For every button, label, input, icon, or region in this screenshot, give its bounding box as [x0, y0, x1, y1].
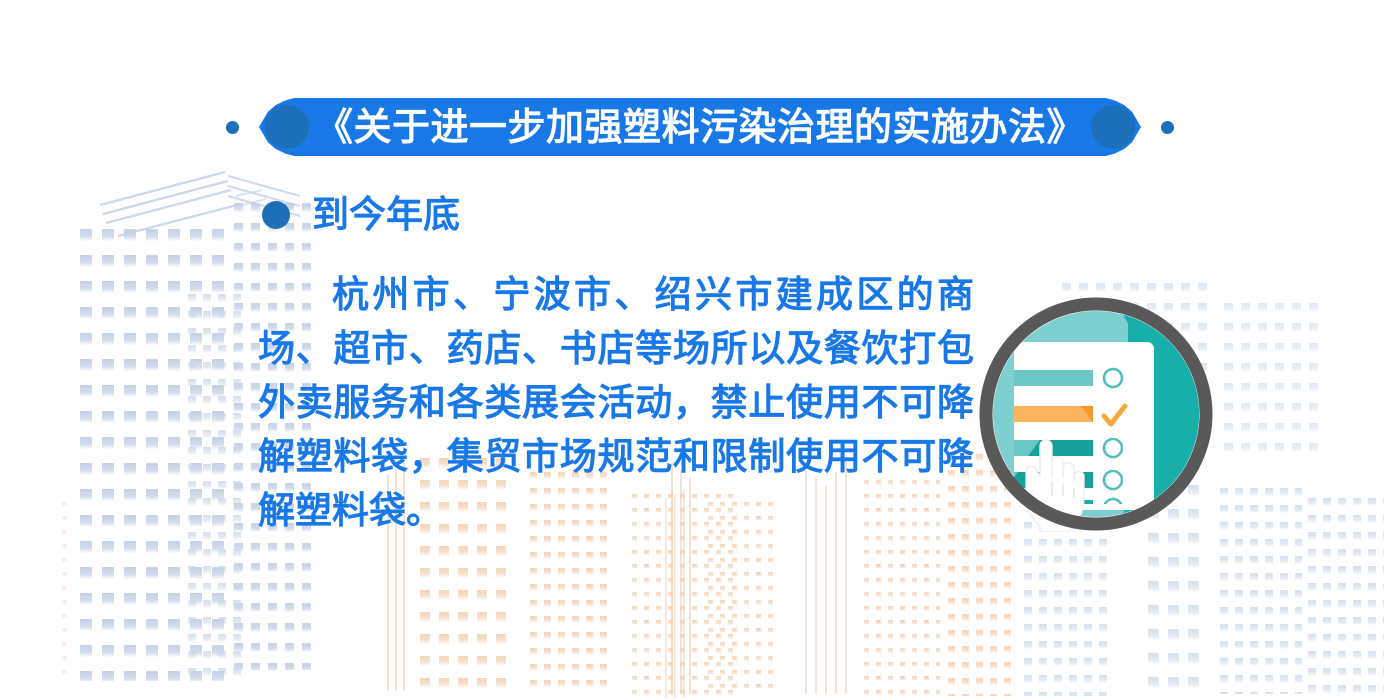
- banner-outer-dot-left-icon: [226, 121, 239, 134]
- banner-lens: 《关于进一步加强塑料污染治理的实施办法》: [259, 98, 1141, 156]
- filled-circle-icon: [262, 201, 290, 229]
- building-left-slim: [186, 292, 246, 682]
- body-paragraph: 杭州市、宁波市、绍兴市建成区的商场、超市、药店、书店等场所以及餐饮打包外卖服务和…: [258, 268, 974, 538]
- checklist-badge: [978, 296, 1214, 532]
- subhead-label: 到今年底: [312, 196, 460, 233]
- banner-outer-dot-right-icon: [1161, 121, 1174, 134]
- building-left-edge-ticks: [60, 500, 72, 680]
- title-banner-inner: 《关于进一步加强塑料污染治理的实施办法》: [226, 96, 1174, 158]
- building-behind-badge-2: [1222, 300, 1318, 460]
- poster-root: 《关于进一步加强塑料污染治理的实施办法》 到今年底 杭州市、宁波市、绍兴市建成区…: [0, 0, 1400, 700]
- title-banner: 《关于进一步加强塑料污染治理的实施办法》: [0, 96, 1400, 158]
- page-title: 《关于进一步加强塑料污染治理的实施办法》: [309, 108, 1091, 146]
- banner-cap-circle-left-icon: [265, 105, 309, 149]
- subhead: 到今年底: [262, 196, 460, 233]
- banner-cap-circle-right-icon: [1091, 105, 1135, 149]
- building-right-c: [1218, 486, 1302, 694]
- building-right-d: [1306, 496, 1384, 694]
